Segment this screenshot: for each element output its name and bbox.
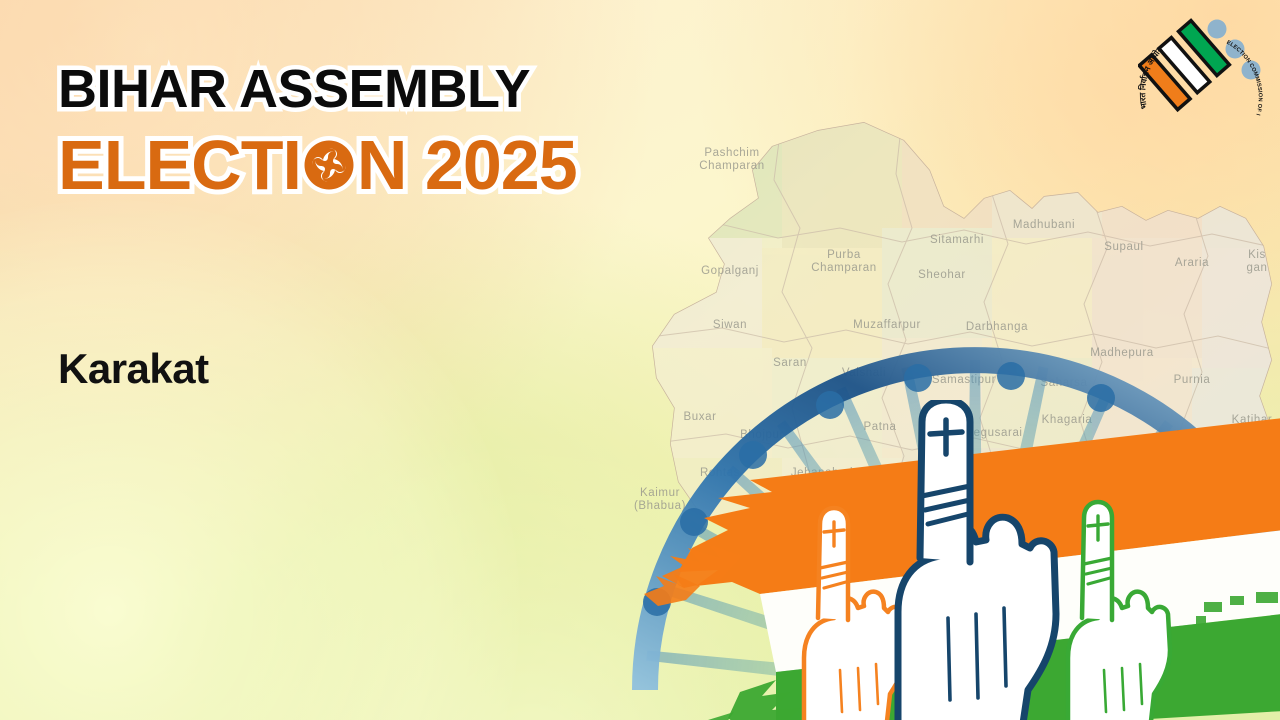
headline-main-before: ELECTI bbox=[58, 130, 301, 200]
ballot-cross-icon bbox=[298, 134, 360, 196]
background-glow-left bbox=[0, 200, 520, 720]
constituency-name: Karakat bbox=[58, 345, 209, 393]
hand-center bbox=[898, 400, 1056, 720]
headline-block: BIHAR ASSEMBLY ELECTI N 2025 bbox=[58, 62, 698, 200]
hand-right bbox=[1068, 502, 1170, 720]
page-title: BIHAR ASSEMBLY bbox=[58, 62, 698, 116]
election-commission-of-india-logo: भारत निर्वाचन आयोग ELECTION COMMISSION O… bbox=[1138, 12, 1266, 130]
voter-hands-graphic bbox=[780, 400, 1230, 720]
headline-main-after: N 2025 bbox=[357, 130, 577, 200]
headline-main-line: ELECTI N 2025 bbox=[58, 130, 698, 200]
hand-left bbox=[804, 508, 906, 720]
election-banner: PashchimChamparanPurbaChamparanSitamarhi… bbox=[0, 0, 1280, 720]
